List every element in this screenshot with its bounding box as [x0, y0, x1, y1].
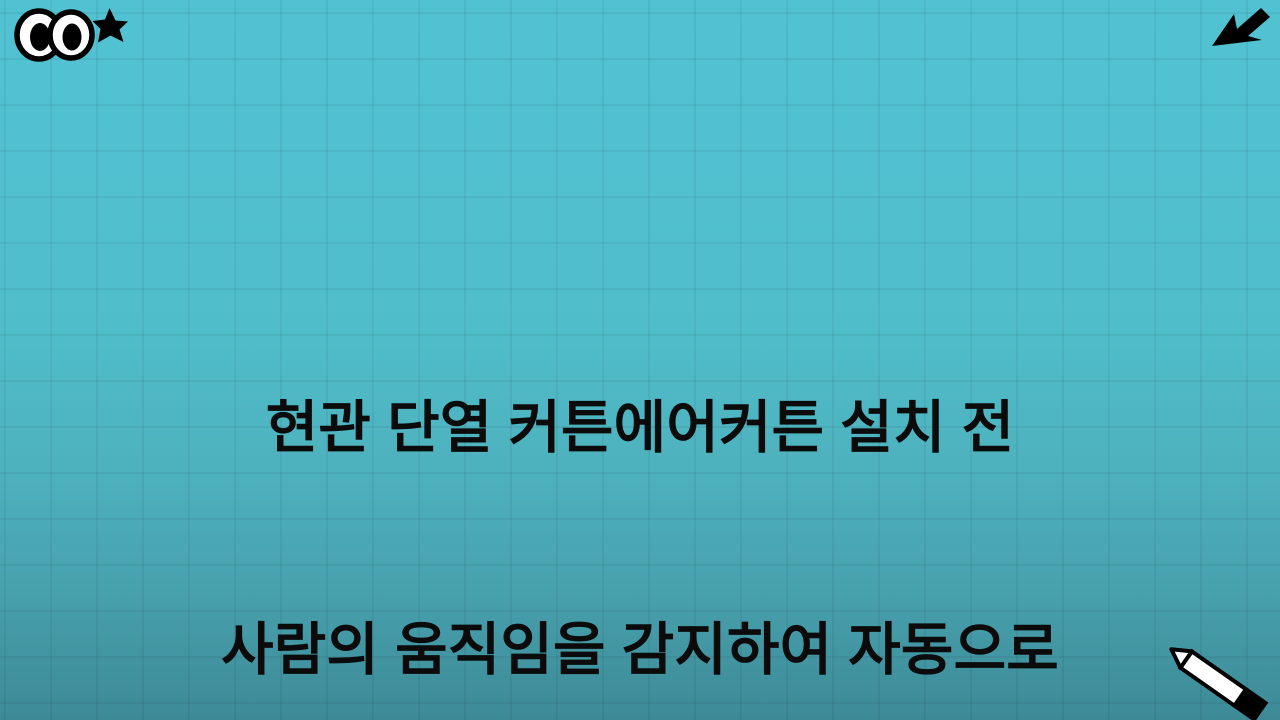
headline-line-2: 사람의 움직임을 감지하여 자동으로: [0, 613, 1280, 687]
star-icon: [93, 8, 129, 43]
headline: 현관 단열 커튼에어커튼 설치 전 사람의 움직임을 감지하여 자동으로 커튼에…: [0, 243, 1280, 720]
headline-line-1: 현관 단열 커튼에어커튼 설치 전: [0, 391, 1280, 465]
eye-right-icon: [50, 12, 92, 58]
thumbnail-canvas: 현관 단열 커튼에어커튼 설치 전 사람의 움직임을 감지하여 자동으로 커튼에…: [0, 0, 1280, 720]
eyes-star-logo: [8, 4, 128, 62]
cursor-arrow-icon: [1204, 2, 1276, 56]
